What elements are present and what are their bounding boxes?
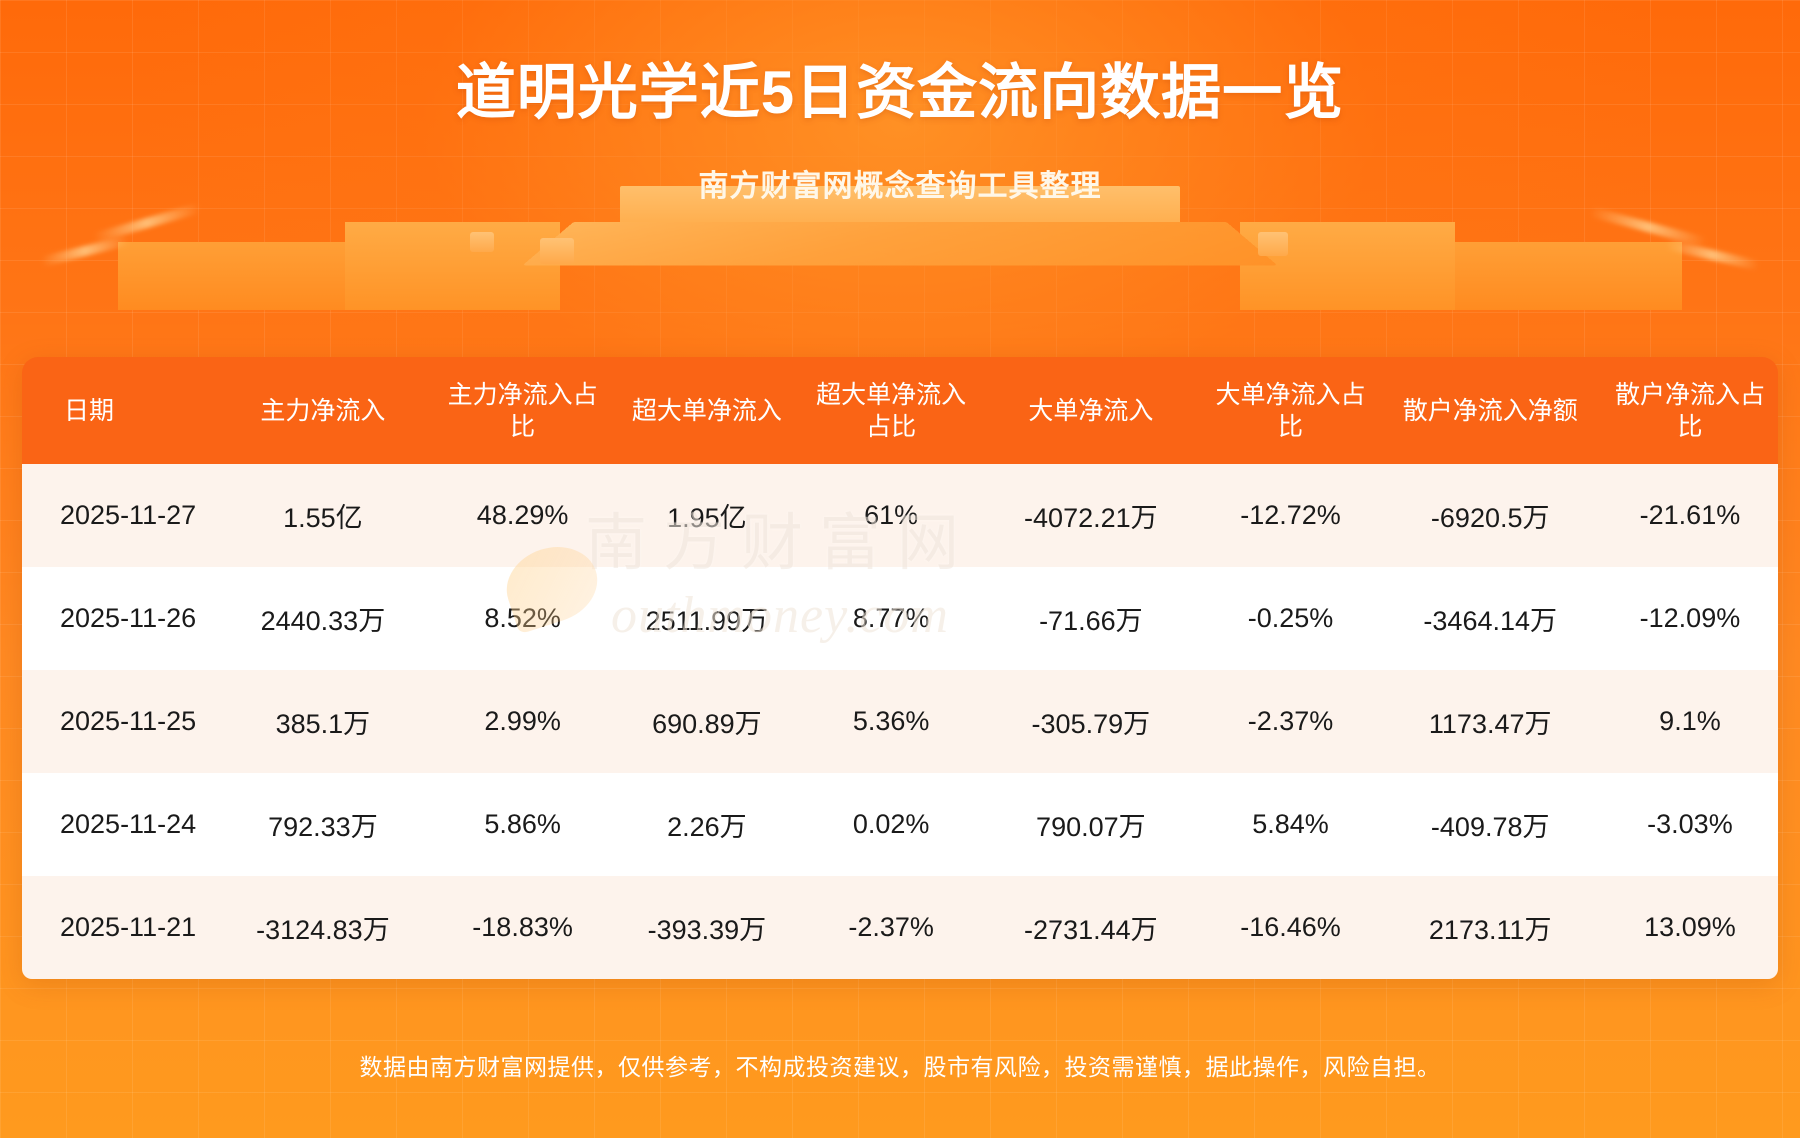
cell-large-pct: -0.25% bbox=[1203, 567, 1379, 670]
cell-date: 2025-11-27 bbox=[22, 464, 211, 567]
cell-date: 2025-11-21 bbox=[22, 876, 211, 979]
cell-date: 2025-11-26 bbox=[22, 567, 211, 670]
cell-retail-pct: 13.09% bbox=[1602, 876, 1778, 979]
footer-disclaimer: 数据由南方财富网提供，仅供参考，不构成投资建议，股市有风险，投资需谨慎，据此操作… bbox=[0, 1048, 1800, 1082]
cell-super-net: 690.89万 bbox=[611, 670, 804, 773]
cell-retail-pct: 9.1% bbox=[1602, 670, 1778, 773]
cell-large-net: -305.79万 bbox=[979, 670, 1202, 773]
table-row: 2025-11-21 -3124.83万 -18.83% -393.39万 -2… bbox=[22, 876, 1778, 979]
cell-large-pct: -12.72% bbox=[1203, 464, 1379, 567]
cell-large-net: -4072.21万 bbox=[979, 464, 1202, 567]
cell-super-pct: -2.37% bbox=[803, 876, 979, 979]
cell-super-pct: 5.36% bbox=[803, 670, 979, 773]
cell-main-pct: -18.83% bbox=[435, 876, 611, 979]
fund-flow-table-card: 日期 主力净流入 主力净流入占比 超大单净流入 超大单净流入占比 大单净流入 大… bbox=[22, 357, 1778, 979]
cell-super-pct: 61% bbox=[803, 464, 979, 567]
column-header-retail-pct: 散户净流入占比 bbox=[1602, 357, 1778, 464]
table-body: 2025-11-27 1.55亿 48.29% 1.95亿 61% -4072.… bbox=[22, 464, 1778, 979]
fund-flow-table: 日期 主力净流入 主力净流入占比 超大单净流入 超大单净流入占比 大单净流入 大… bbox=[22, 357, 1778, 979]
cell-super-net: -393.39万 bbox=[611, 876, 804, 979]
cell-super-net: 2.26万 bbox=[611, 773, 804, 876]
table-row: 2025-11-26 2440.33万 8.52% 2511.99万 8.77%… bbox=[22, 567, 1778, 670]
column-header-date: 日期 bbox=[22, 357, 211, 464]
column-header-main-pct: 主力净流入占比 bbox=[435, 357, 611, 464]
column-header-super-net: 超大单净流入 bbox=[611, 357, 804, 464]
cell-large-pct: 5.84% bbox=[1203, 773, 1379, 876]
cell-date: 2025-11-25 bbox=[22, 670, 211, 773]
cell-super-net: 1.95亿 bbox=[611, 464, 804, 567]
cell-retail-net: -6920.5万 bbox=[1379, 464, 1602, 567]
cell-main-net: 792.33万 bbox=[211, 773, 434, 876]
column-header-large-pct: 大单净流入占比 bbox=[1203, 357, 1379, 464]
table-header-row: 日期 主力净流入 主力净流入占比 超大单净流入 超大单净流入占比 大单净流入 大… bbox=[22, 357, 1778, 464]
cell-large-pct: -2.37% bbox=[1203, 670, 1379, 773]
column-header-super-pct: 超大单净流入占比 bbox=[803, 357, 979, 464]
cell-large-net: -2731.44万 bbox=[979, 876, 1202, 979]
cell-retail-net: -3464.14万 bbox=[1379, 567, 1602, 670]
table-row: 2025-11-25 385.1万 2.99% 690.89万 5.36% -3… bbox=[22, 670, 1778, 773]
column-header-retail-net: 散户净流入净额 bbox=[1379, 357, 1602, 464]
cell-retail-pct: -21.61% bbox=[1602, 464, 1778, 567]
cell-super-pct: 0.02% bbox=[803, 773, 979, 876]
column-header-large-net: 大单净流入 bbox=[979, 357, 1202, 464]
cell-retail-pct: -12.09% bbox=[1602, 567, 1778, 670]
cell-large-net: 790.07万 bbox=[979, 773, 1202, 876]
cell-large-pct: -16.46% bbox=[1203, 876, 1379, 979]
cell-main-net: 1.55亿 bbox=[211, 464, 434, 567]
cell-main-pct: 48.29% bbox=[435, 464, 611, 567]
cell-main-pct: 2.99% bbox=[435, 670, 611, 773]
page-title: 道明光学近5日资金流向数据一览 bbox=[0, 0, 1800, 131]
cell-main-pct: 5.86% bbox=[435, 773, 611, 876]
cell-main-pct: 8.52% bbox=[435, 567, 611, 670]
cell-main-net: 385.1万 bbox=[211, 670, 434, 773]
page-root: 道明光学近5日资金流向数据一览 南方财富网概念查询工具整理 日期 主力净流入 主… bbox=[0, 0, 1800, 1138]
cell-date: 2025-11-24 bbox=[22, 773, 211, 876]
cell-super-pct: 8.77% bbox=[803, 567, 979, 670]
cell-super-net: 2511.99万 bbox=[611, 567, 804, 670]
cell-main-net: 2440.33万 bbox=[211, 567, 434, 670]
column-header-main-net: 主力净流入 bbox=[211, 357, 434, 464]
table-header: 日期 主力净流入 主力净流入占比 超大单净流入 超大单净流入占比 大单净流入 大… bbox=[22, 357, 1778, 464]
cell-retail-net: 1173.47万 bbox=[1379, 670, 1602, 773]
table-row: 2025-11-24 792.33万 5.86% 2.26万 0.02% 790… bbox=[22, 773, 1778, 876]
cell-retail-net: 2173.11万 bbox=[1379, 876, 1602, 979]
cell-large-net: -71.66万 bbox=[979, 567, 1202, 670]
cell-main-net: -3124.83万 bbox=[211, 876, 434, 979]
page-subtitle: 南方财富网概念查询工具整理 bbox=[0, 161, 1800, 205]
table-row: 2025-11-27 1.55亿 48.29% 1.95亿 61% -4072.… bbox=[22, 464, 1778, 567]
cell-retail-net: -409.78万 bbox=[1379, 773, 1602, 876]
cell-retail-pct: -3.03% bbox=[1602, 773, 1778, 876]
